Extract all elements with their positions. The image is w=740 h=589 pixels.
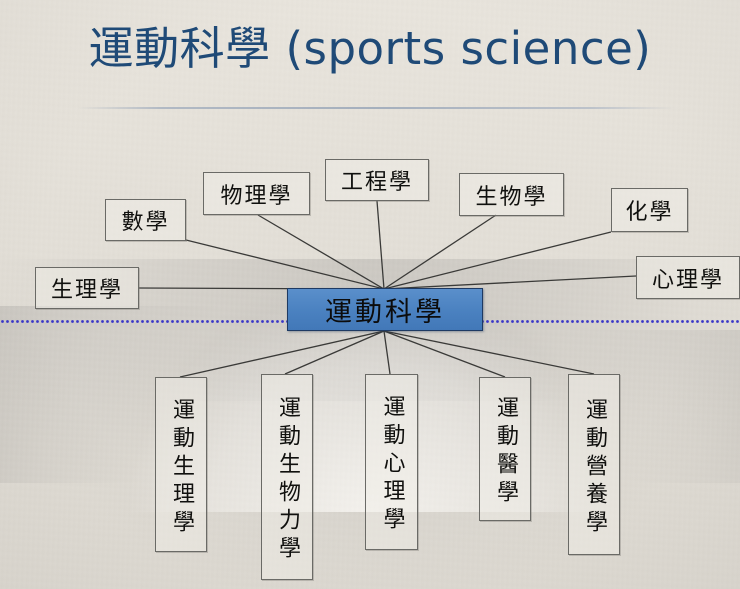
node-yundongshengwulixue[interactable]: 運動生物力學	[261, 374, 313, 580]
node-huaxue[interactable]: 化學	[611, 188, 688, 232]
connector-to-yundongxinlixue	[384, 331, 390, 374]
node-label: 心理學	[652, 262, 724, 294]
node-label: 工程學	[341, 164, 413, 196]
node-wulixue[interactable]: 物理學	[203, 172, 310, 215]
node-yundongxinlixue[interactable]: 運動心理學	[365, 374, 418, 550]
connector-to-gongchengxue	[377, 201, 384, 289]
node-yundongyingyangxue[interactable]: 運動營養學	[568, 374, 620, 555]
node-label: 物理學	[220, 178, 292, 210]
connector-to-shuxue	[186, 240, 384, 289]
node-label: 運動生物力學	[276, 396, 298, 564]
node-label: 生物學	[475, 179, 547, 211]
connector-to-wulixue	[258, 215, 384, 289]
node-label: 運動心理學	[381, 395, 403, 535]
node-yundongyixue[interactable]: 運動醫學	[479, 377, 531, 521]
node-shuxue[interactable]: 數學	[105, 199, 186, 241]
node-gongchengxue[interactable]: 工程學	[325, 159, 429, 201]
connector-to-yundongshenglixue	[180, 331, 384, 377]
node-label: 數學	[121, 204, 169, 236]
node-label: 運動醫學	[494, 396, 516, 508]
node-label: 生理學	[51, 272, 123, 304]
node-label: 化學	[625, 194, 673, 226]
node-label: 運動營養學	[583, 398, 605, 538]
node-center-sports-science[interactable]: 運動科學	[287, 288, 483, 331]
node-center-label: 運動科學	[325, 290, 445, 329]
node-label: 運動生理學	[170, 398, 192, 538]
connector-to-yundongyixue	[384, 331, 505, 377]
node-xinlixue[interactable]: 心理學	[636, 256, 740, 299]
connector-to-yundongyingyangxue	[384, 331, 594, 374]
node-yundongshenglixue[interactable]: 運動生理學	[155, 377, 207, 552]
node-shengwuxue[interactable]: 生物學	[459, 173, 564, 216]
slide-canvas: 運動科學 (sports science) 數學 物理學 工程學	[0, 0, 740, 589]
connector-to-yundongshengwulixue	[285, 331, 384, 374]
connector-to-shengwuxue	[384, 215, 496, 289]
connector-to-huaxue	[384, 232, 611, 289]
node-shenglixue[interactable]: 生理學	[35, 267, 139, 309]
